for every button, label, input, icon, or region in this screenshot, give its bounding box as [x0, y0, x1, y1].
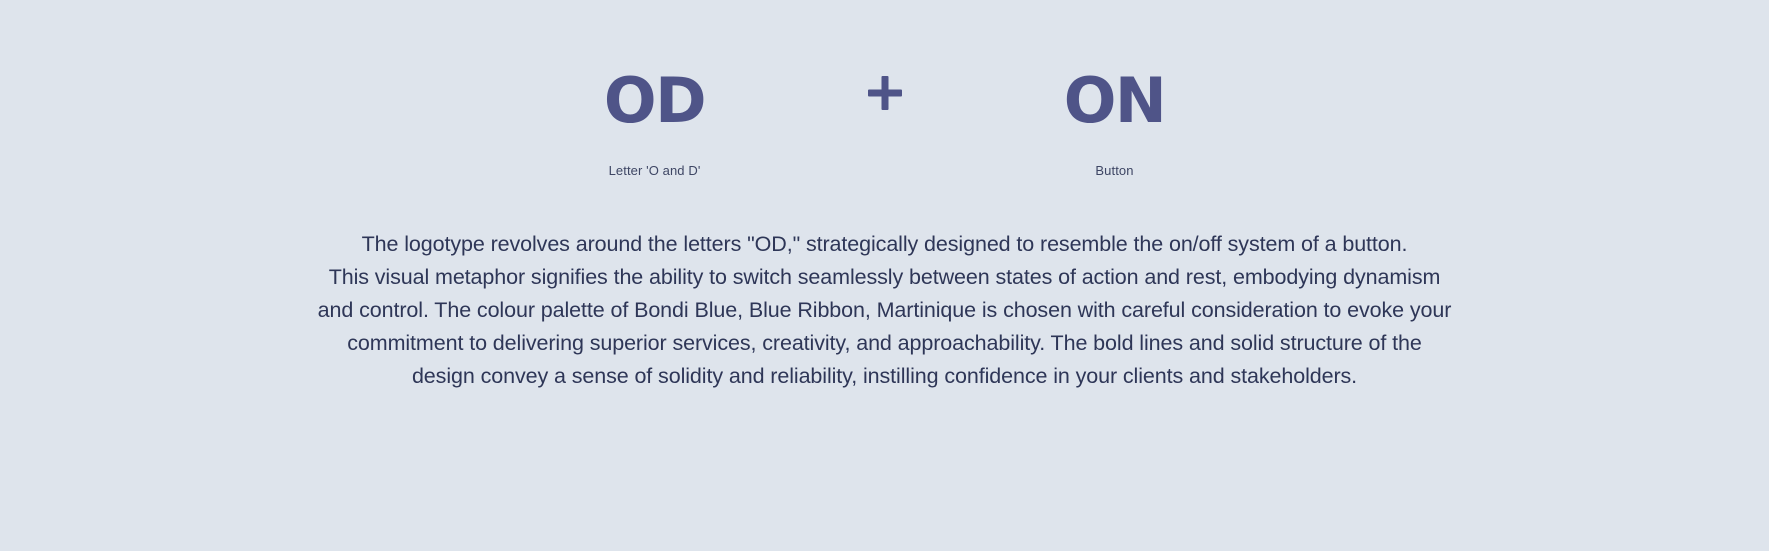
formula-operator [805, 62, 965, 110]
rationale-line: commitment to delivering superior servic… [235, 327, 1535, 360]
rationale-line: This visual metaphor signifies the abili… [235, 261, 1535, 294]
rationale-line: The logotype revolves around the letters… [235, 228, 1535, 261]
logo-mark-od: OD [604, 62, 705, 140]
rationale-line: design convey a sense of solidity and re… [235, 360, 1535, 393]
logo-construction-formula: OD Letter 'O and D' ON Button [0, 62, 1769, 180]
rationale-paragraph: The logotype revolves around the letters… [235, 228, 1535, 393]
rationale-line: and control. The colour palette of Bondi… [235, 294, 1535, 327]
formula-item-letters: OD Letter 'O and D' [505, 62, 805, 180]
logo-mark-on-caption: Button [1095, 162, 1133, 180]
logo-mark-od-caption: Letter 'O and D' [609, 162, 701, 180]
plus-icon [868, 76, 902, 110]
formula-item-button: ON Button [965, 62, 1265, 180]
logo-rationale-slide: OD Letter 'O and D' ON Button The logoty… [0, 0, 1769, 551]
logo-mark-on: ON [1064, 62, 1166, 140]
